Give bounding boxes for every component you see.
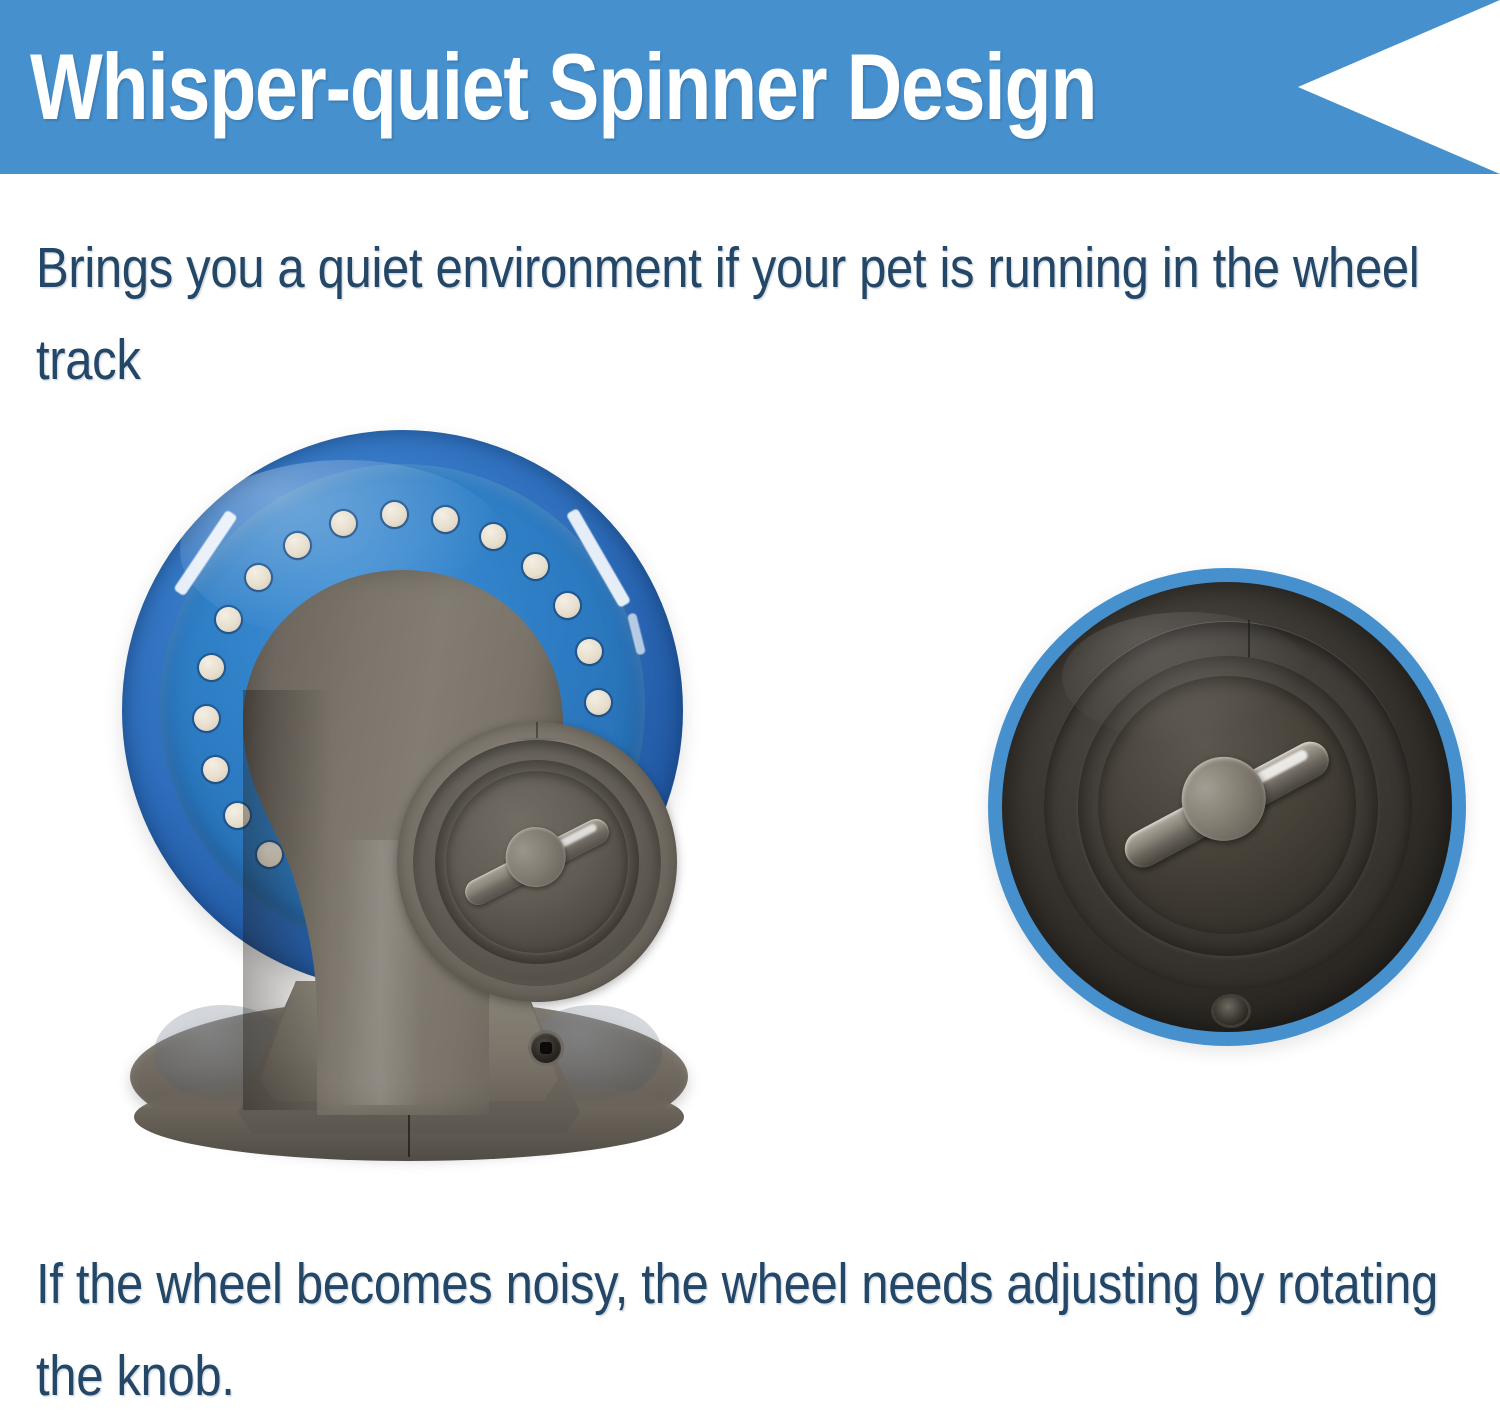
- wheel-vent-hole: [194, 706, 219, 731]
- page-title: Whisper-quiet Spinner Design: [30, 16, 1063, 158]
- wheel-vent-hole: [285, 533, 310, 558]
- closeup-hub-disc: [1002, 582, 1452, 1032]
- wheel-vent-hole: [203, 757, 228, 782]
- wheel-vent-hole: [586, 690, 611, 715]
- closeup-stand-screw: [1214, 997, 1248, 1025]
- wheel-vent-hole: [577, 639, 602, 664]
- wheel-vent-hole: [382, 502, 407, 527]
- stand-screw: [531, 1033, 561, 1063]
- wheel-vent-hole: [331, 511, 356, 536]
- spinner-knob-closeup-photo: [988, 568, 1466, 1046]
- subtitle-text: Brings you a quiet environment if your p…: [36, 222, 1489, 407]
- wheel-stand: [243, 570, 563, 1115]
- footnote-text: If the wheel becomes noisy, the wheel ne…: [36, 1238, 1489, 1423]
- wheel-vent-hole: [433, 507, 458, 532]
- header-banner: Whisper-quiet Spinner Design: [0, 0, 1500, 174]
- wheel-vent-hole: [199, 655, 224, 680]
- closeup-highlight: [1062, 612, 1312, 742]
- wheel-vent-hole: [481, 524, 506, 549]
- wheel-vent-hole: [216, 607, 241, 632]
- hamster-exercise-wheel-photo: [110, 415, 710, 1175]
